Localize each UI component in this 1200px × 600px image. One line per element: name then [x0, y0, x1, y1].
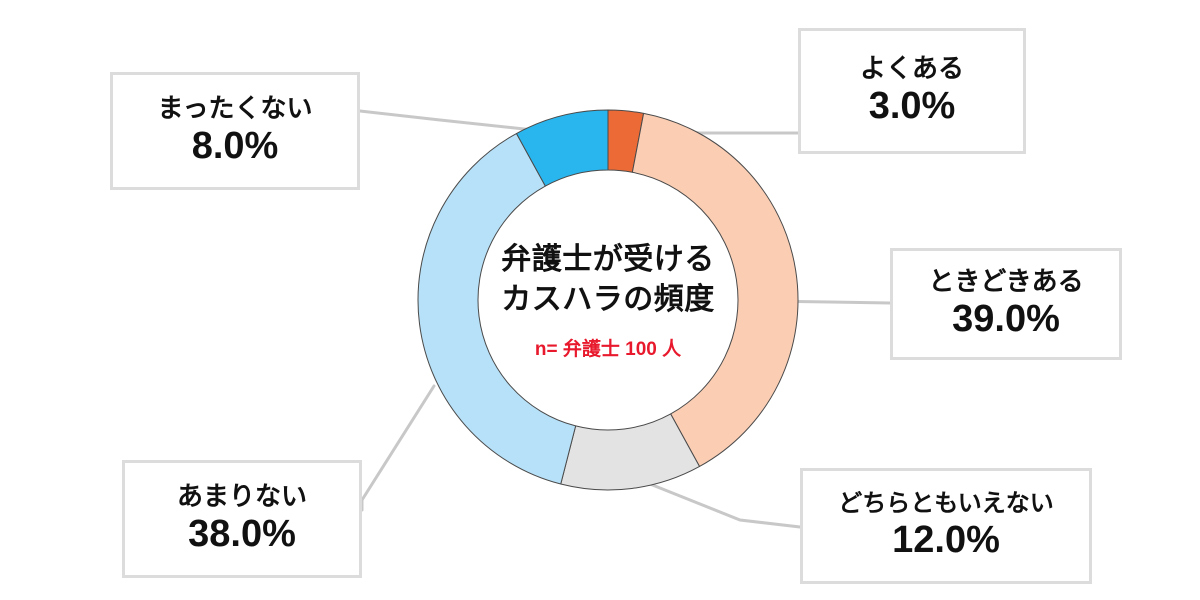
callout-label-amarinai: あまりない: [177, 482, 307, 512]
donut-slices: [418, 110, 798, 490]
callout-yokuaru: よくある 3.0%: [798, 28, 1026, 154]
callout-mattakunai: まったくない 8.0%: [110, 72, 360, 190]
donut-svg: [408, 100, 808, 500]
callout-value-dochiratomoienai: 12.0%: [892, 520, 1000, 562]
callout-amarinai: あまりない 38.0%: [122, 460, 362, 578]
donut-slice: [632, 113, 798, 466]
donut-slice: [418, 134, 576, 485]
callout-value-amarinai: 38.0%: [188, 514, 296, 556]
callout-label-mattakunai: まったくない: [158, 94, 313, 124]
callout-dochiratomoienai: どちらともいえない 12.0%: [800, 468, 1092, 584]
donut-chart: [408, 100, 808, 500]
callout-label-dochiratomoienai: どちらともいえない: [838, 490, 1054, 518]
callout-label-tokidokiaru: ときどきある: [928, 267, 1083, 297]
callout-value-tokidokiaru: 39.0%: [952, 299, 1060, 341]
chart-canvas: 弁護士が受ける カスハラの頻度 n= 弁護士 100 人 よくある 3.0% ま…: [0, 0, 1200, 600]
callout-tokidokiaru: ときどきある 39.0%: [890, 248, 1122, 360]
callout-value-mattakunai: 8.0%: [192, 126, 279, 168]
callout-label-yokuaru: よくある: [860, 54, 964, 84]
callout-value-yokuaru: 3.0%: [869, 86, 956, 128]
